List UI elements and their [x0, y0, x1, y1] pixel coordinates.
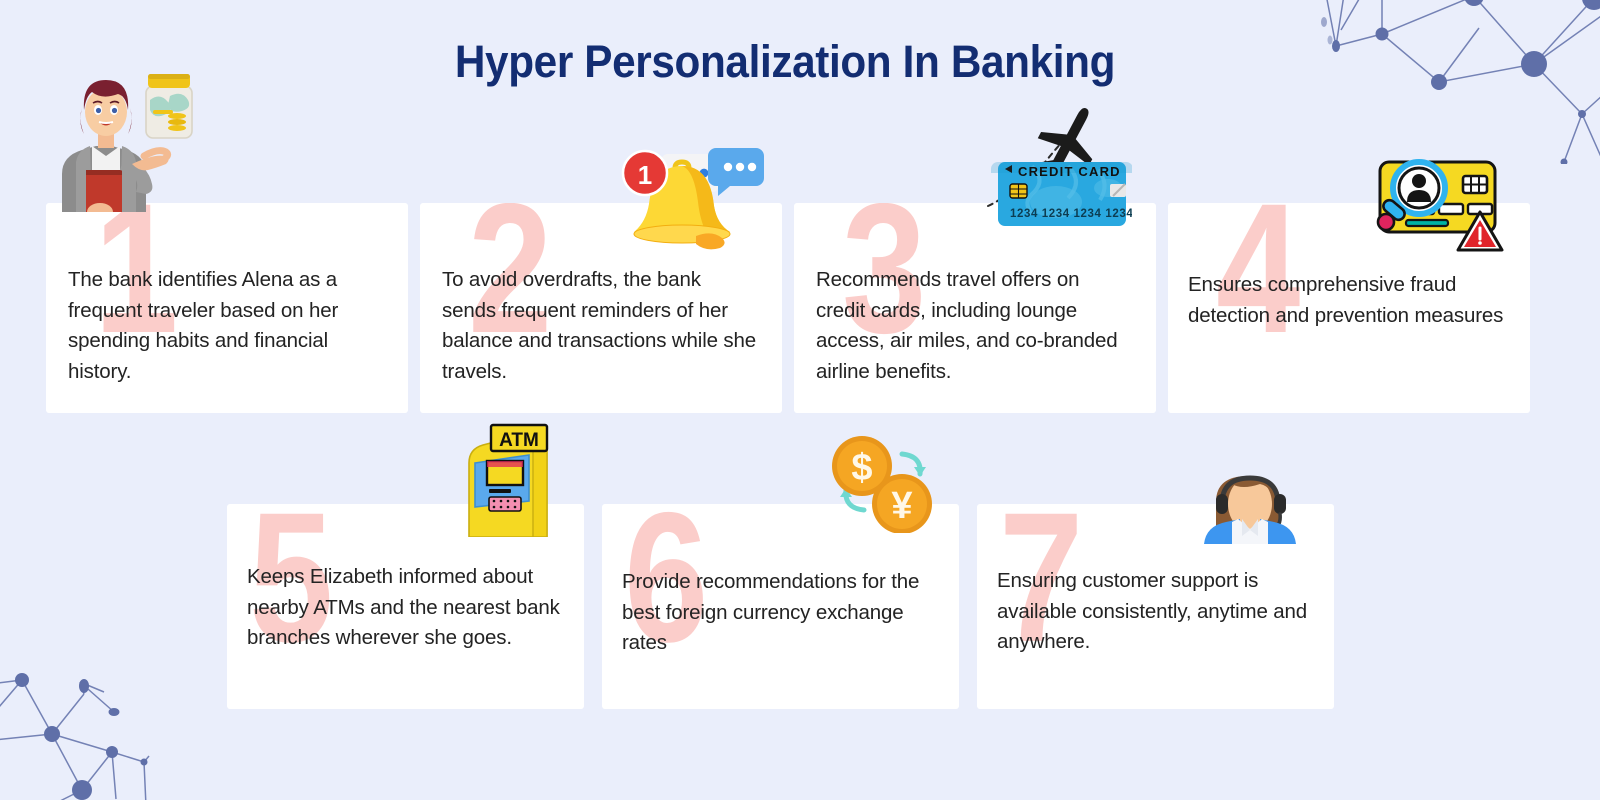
- credit-card-title: CREDIT CARD: [1018, 164, 1121, 179]
- dollar-coin-icon: $: [832, 436, 892, 496]
- step-text-4: Ensures comprehensive fraud detection an…: [1168, 203, 1530, 331]
- atm-sign-label: ATM: [499, 430, 539, 451]
- step-card-4[interactable]: 4 Ensures comprehensive fraud detection …: [1168, 203, 1530, 413]
- step-text-2: To avoid overdrafts, the bank sends freq…: [420, 203, 782, 387]
- step-text-3: Recommends travel offers on credit cards…: [794, 203, 1156, 387]
- chat-bubble-blue-icon: [708, 148, 764, 196]
- exchange-arrow-down: [914, 467, 926, 476]
- step-text-6: Provide recommendations for the best for…: [602, 504, 959, 659]
- step-card-2[interactable]: 2 To avoid overdrafts, the bank sends fr…: [420, 203, 782, 413]
- chat-bubble-white-icon: [661, 154, 719, 203]
- card-row-bottom: 5 Keeps Elizabeth informed about nearby …: [227, 504, 1334, 709]
- step-text-5: Keeps Elizabeth informed about nearby AT…: [227, 504, 584, 654]
- page-title: Hyper Personalization In Banking: [47, 36, 1523, 88]
- network-decoration-bottom-left: [0, 594, 264, 800]
- dollar-symbol: $: [851, 447, 872, 489]
- step-card-1[interactable]: 1 The bank identifies Alena as a frequen…: [46, 203, 408, 413]
- card-row-top: 1 The bank identifies Alena as a frequen…: [46, 203, 1530, 413]
- step-card-3[interactable]: 3 Recommends travel offers on credit car…: [794, 203, 1156, 413]
- step-card-6[interactable]: 6 Provide recommendations for the best f…: [602, 504, 959, 709]
- step-text-7: Ensuring customer support is available c…: [977, 504, 1334, 658]
- businesswoman-icon: [62, 80, 169, 212]
- step-card-5[interactable]: 5 Keeps Elizabeth informed about nearby …: [227, 504, 584, 709]
- notification-badge: 1: [623, 151, 667, 195]
- step-text-1: The bank identifies Alena as a frequent …: [46, 203, 408, 387]
- step-card-7[interactable]: 7 Ensuring customer support is available…: [977, 504, 1334, 709]
- exchange-arrow-up: [840, 488, 852, 497]
- exchange-arrows-icon: [846, 454, 920, 510]
- airplane-icon: [1026, 95, 1111, 187]
- badge-count: 1: [638, 160, 652, 190]
